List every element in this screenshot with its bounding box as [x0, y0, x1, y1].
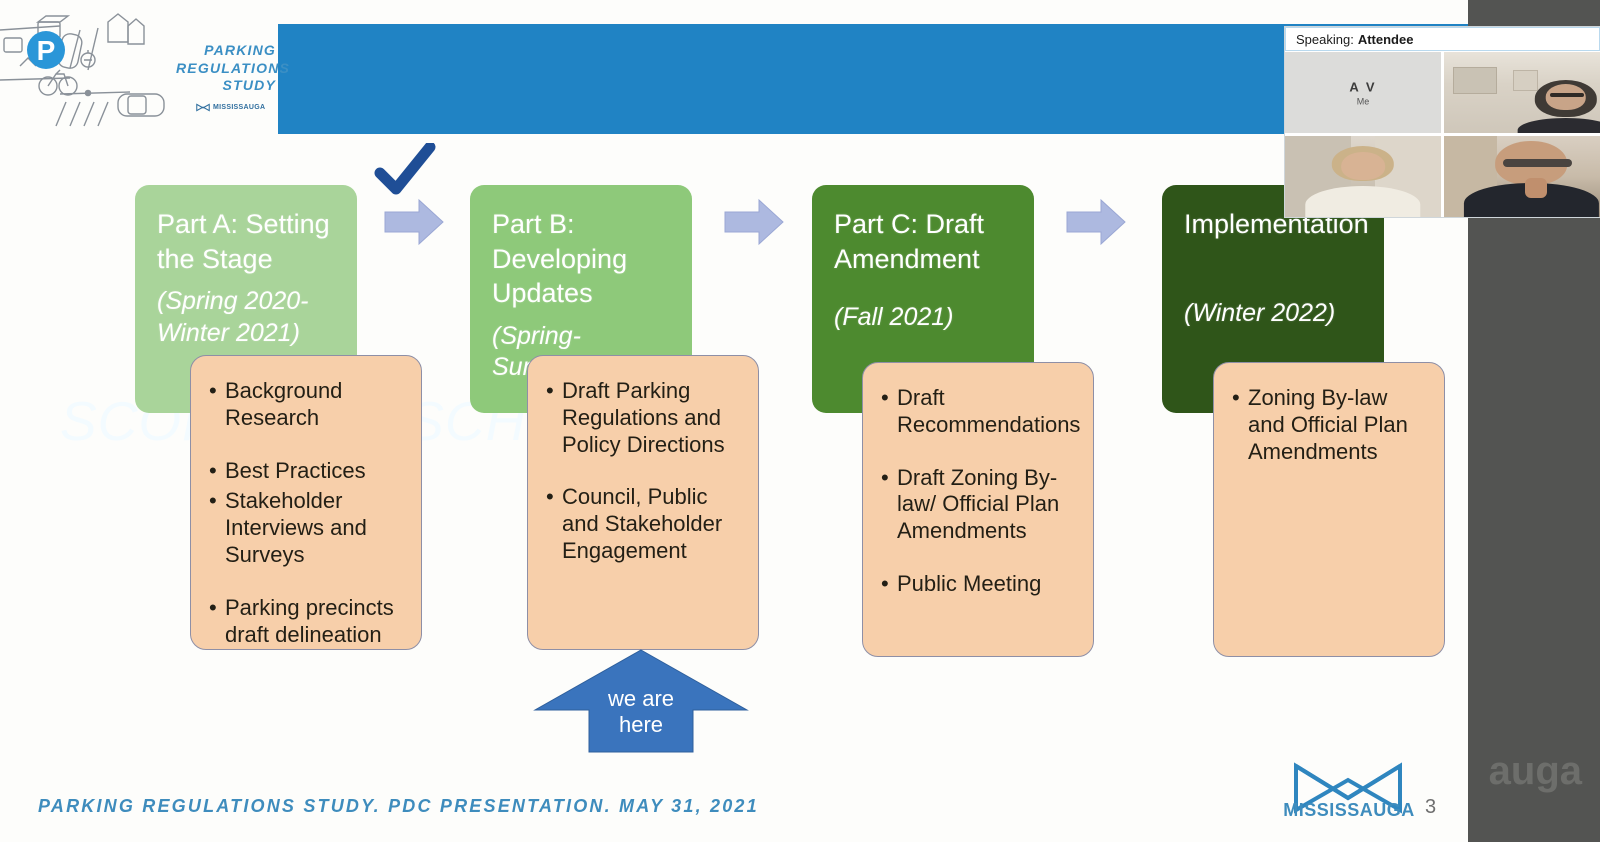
bullet-dot: • [209, 488, 225, 568]
video-conference-panel[interactable]: Speaking: Attendee A V Me [1285, 27, 1600, 217]
parking-illustration: P [0, 8, 200, 128]
logo-line-3: STUDY [176, 77, 276, 95]
bullet-item: • Draft Parking Regulations and Policy D… [546, 378, 742, 458]
bullet-item: • Parking precincts draft delineation [209, 595, 405, 649]
slide-footer-text: PARKING REGULATIONS STUDY. PDC PRESENTAT… [38, 796, 759, 817]
bullet-text: Draft Zoning By-law/ Official Plan Amend… [897, 465, 1077, 545]
bullet-item: • Stakeholder Interviews and Surveys [209, 488, 405, 568]
phase-date-part-c: (Fall 2021) [834, 302, 1012, 334]
video-tile-participant-1[interactable] [1444, 52, 1600, 133]
bullet-dot: • [546, 484, 562, 564]
bullet-text: Council, Public and Stakeholder Engageme… [562, 484, 742, 564]
screen: auga SCOPE AND SCHEDULE [0, 0, 1600, 842]
phase-card-implementation: • Zoning By-law and Official Plan Amendm… [1213, 362, 1445, 657]
speaking-label: Speaking: [1296, 32, 1354, 47]
bullet-text: Draft Recommendations [897, 385, 1080, 439]
bullet-dot: • [881, 385, 897, 439]
avatar-self-label: Me [1285, 96, 1441, 106]
bullet-item: • Draft Recommendations [881, 385, 1077, 439]
bullet-item: • Public Meeting [881, 571, 1077, 598]
we-are-here-arrow [533, 648, 749, 754]
logo-line-2: REGULATIONS [176, 60, 276, 78]
logo-line-1: PARKING [176, 42, 276, 60]
bullet-text: Zoning By-law and Official Plan Amendmen… [1248, 385, 1428, 465]
backdrop-watermark: auga [1489, 749, 1582, 794]
study-logo-words: PARKING REGULATIONS STUDY [176, 42, 276, 95]
bullet-dot: • [1232, 385, 1248, 465]
bullet-dot: • [209, 458, 225, 485]
phase-card-part-c: • Draft Recommendations • Draft Zoning B… [862, 362, 1094, 657]
bullet-item: • Draft Zoning By-law/ Official Plan Ame… [881, 465, 1077, 545]
flow-arrow-c-to-implementation [1065, 198, 1127, 246]
phase-date-part-a: (Spring 2020-Winter 2021) [157, 286, 335, 349]
video-tile-participant-2[interactable] [1285, 136, 1441, 217]
phase-title-part-b: Part B: Developing Updates [492, 207, 670, 311]
phase-title-part-c: Part C: Draft Amendment [834, 207, 1012, 276]
speaking-name: Attendee [1358, 32, 1414, 47]
mississauga-mark-icon [196, 103, 210, 112]
phase-card-part-b: • Draft Parking Regulations and Policy D… [527, 355, 759, 650]
bullet-text: Stakeholder Interviews and Surveys [225, 488, 405, 568]
bullet-text: Best Practices [225, 458, 405, 485]
phase-date-implementation: (Winter 2022) [1184, 298, 1362, 330]
avatar-initials: A V [1285, 79, 1441, 94]
bullet-dot: • [546, 378, 562, 458]
phase-card-part-a: • Background Research • Best Practices •… [190, 355, 422, 650]
bullet-item: • Council, Public and Stakeholder Engage… [546, 484, 742, 564]
bullet-text: Background Research [225, 378, 405, 432]
flow-arrow-b-to-c [723, 198, 785, 246]
video-tile-self[interactable]: A V Me [1285, 52, 1441, 133]
phase-title-part-a: Part A: Setting the Stage [157, 207, 335, 276]
active-speaker-bar: Speaking: Attendee [1285, 27, 1600, 51]
bullet-text: Parking precincts draft delineation [225, 595, 405, 649]
bullet-dot: • [881, 465, 897, 545]
bullet-item: • Best Practices [209, 458, 405, 485]
bullet-item: • Zoning By-law and Official Plan Amendm… [1232, 385, 1428, 465]
bullet-dot: • [209, 595, 225, 649]
presentation-slide: SCOPE AND SCHEDULE [0, 0, 1468, 842]
video-tile-participant-3[interactable] [1444, 136, 1600, 217]
bullet-dot: • [881, 571, 897, 598]
study-logo-lockup: P PARKING REGULATIONS STUDY MISSISSAUGA [0, 8, 278, 136]
bullet-text: Draft Parking Regulations and Policy Dir… [562, 378, 742, 458]
svg-text:P: P [37, 35, 56, 66]
avatar-initials-block: A V Me [1285, 79, 1441, 106]
video-tile-grid: A V Me [1285, 52, 1600, 217]
header-city-logo: MISSISSAUGA [196, 103, 265, 112]
slide-page-number: 3 [1425, 796, 1436, 819]
bullet-text: Public Meeting [897, 571, 1077, 598]
mississauga-logo-wordmark: MISSISSAUGA [1283, 800, 1415, 821]
bullet-item: • Background Research [209, 378, 405, 432]
completed-check-icon [374, 143, 436, 199]
flow-arrow-a-to-b [383, 198, 445, 246]
bullet-dot: • [209, 378, 225, 432]
header-city-name: MISSISSAUGA [213, 104, 265, 111]
